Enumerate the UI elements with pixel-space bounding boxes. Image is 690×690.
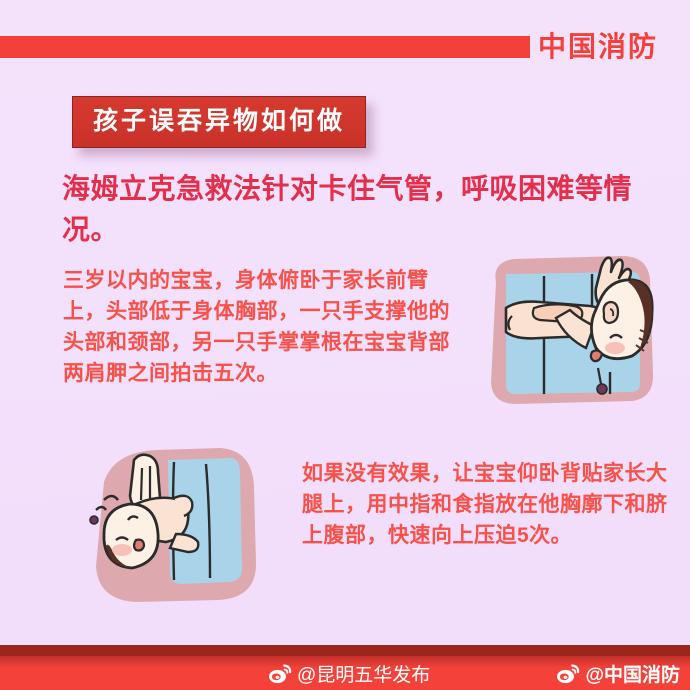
header-red-rule — [0, 36, 530, 58]
lead-heading: 海姆立克急救法针对卡住气管，呼吸困难等情况。 — [62, 168, 652, 250]
illustration-baby-prone-on-forearm — [482, 252, 656, 408]
header-bar: 中国消防 — [0, 36, 690, 58]
poster-root: 中国消防 孩子误吞异物如何做 海姆立克急救法针对卡住气管，呼吸困难等情况。 三岁… — [0, 0, 690, 690]
weibo-icon — [268, 664, 292, 684]
body-paragraph-1: 三岁以内的宝宝，身体俯卧于家长前臂上，头部低于身体胸部，一只手支撑他的头部和颈部… — [63, 265, 463, 389]
title-banner-label: 孩子误吞异物如何做 — [93, 106, 345, 136]
footer-handle-right-label: @中国消防 — [585, 660, 680, 687]
footer-handle-center[interactable]: @昆明五华发布 — [268, 660, 430, 687]
footer-handle-center-label: @昆明五华发布 — [297, 660, 430, 687]
body-paragraph-2: 如果没有效果，让宝宝仰卧背贴家长大腿上，用中指和食指放在他胸廓下和脐上腹部，快速… — [302, 458, 674, 551]
title-banner: 孩子误吞异物如何做 — [72, 96, 366, 148]
weibo-icon — [556, 664, 580, 684]
header-brand-label: 中国消防 — [538, 29, 658, 65]
illustration-baby-supine-on-thigh — [70, 442, 270, 614]
footer-bar: @昆明五华发布 @中国消防 — [0, 645, 690, 690]
footer-handle-right[interactable]: @中国消防 — [556, 660, 680, 687]
footer-top-shadow — [0, 645, 690, 656]
